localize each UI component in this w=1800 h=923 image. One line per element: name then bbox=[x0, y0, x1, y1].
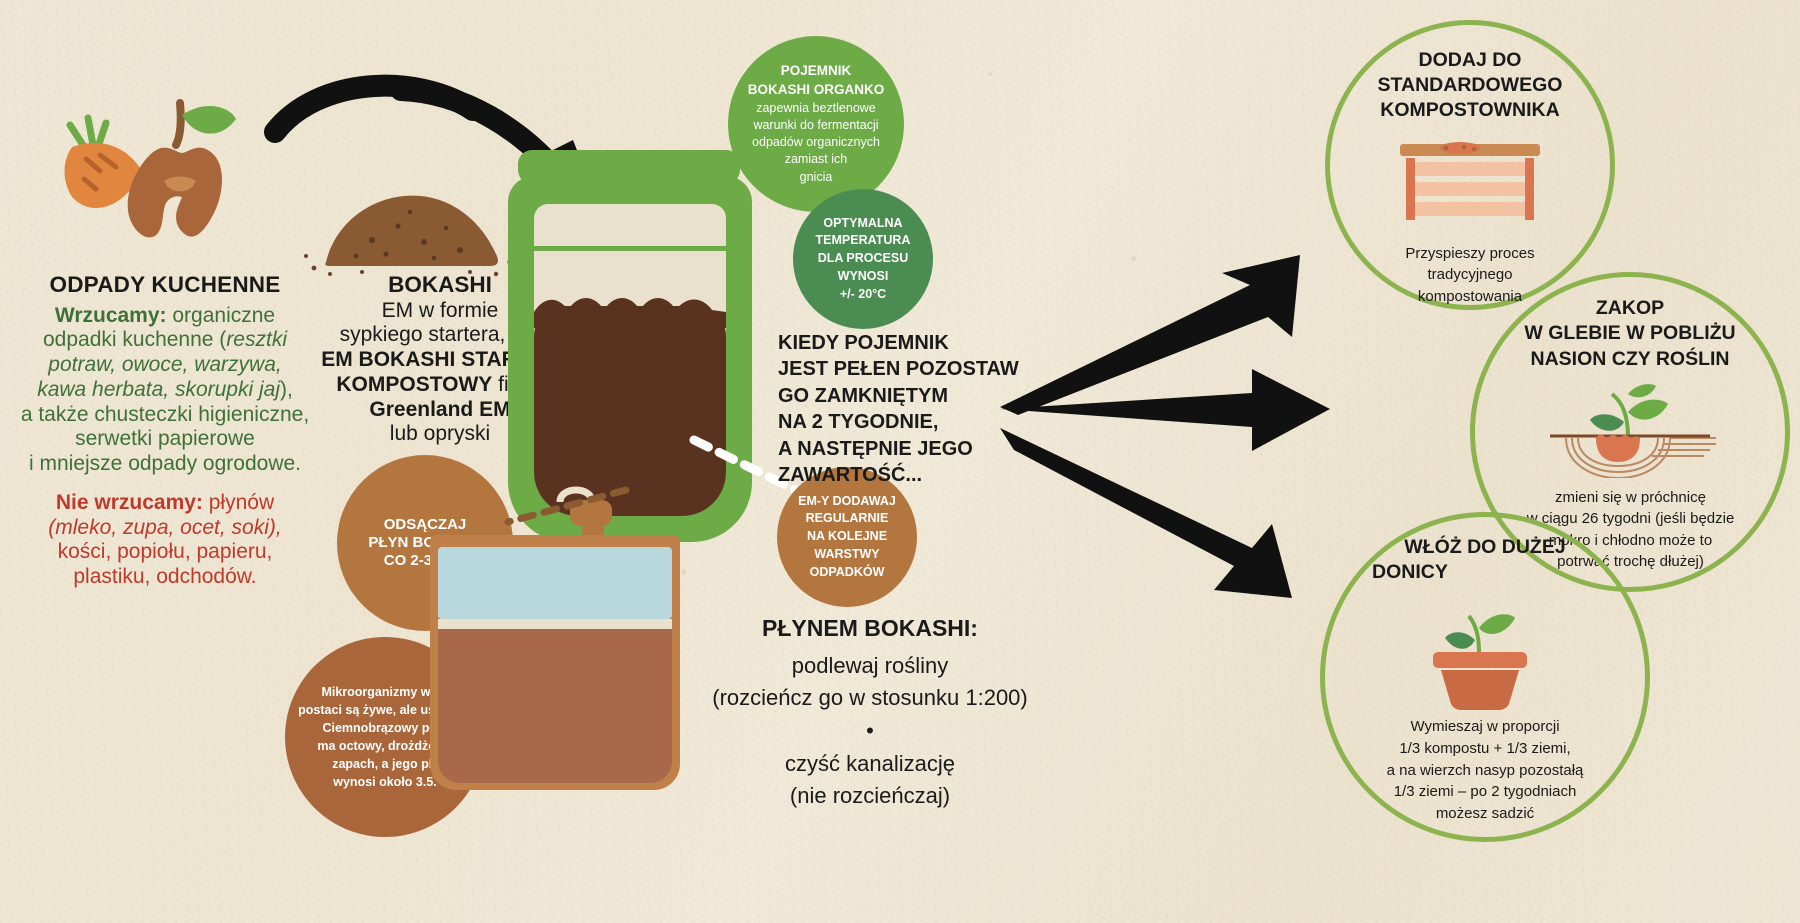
composter-title-1: DODAJ DO bbox=[1325, 48, 1615, 73]
bucket-liquid-surface bbox=[438, 619, 672, 629]
composter-body-1: Przyspieszy proces bbox=[1335, 243, 1605, 264]
container-body-5: gnicia bbox=[748, 169, 885, 186]
vegetables-icon bbox=[30, 85, 255, 275]
center-line-6: ZAWARTOŚĆ... bbox=[778, 462, 1028, 488]
pot-title-2: DONICY bbox=[1330, 560, 1640, 585]
outcome-pot-text: WŁÓŻ DO DUŻEJ DONICY bbox=[1330, 535, 1640, 586]
center-line-5: A NASTĘPNIE JEGO bbox=[778, 436, 1028, 462]
container-body-3: odpadów organicznych bbox=[748, 134, 885, 151]
outcome-composter-text: DODAJ DO STANDARDOWEGO KOMPOSTOWNIKA bbox=[1325, 48, 1615, 123]
plant-pot-icon bbox=[1415, 600, 1545, 710]
accept-line-7: i mniejsze odpady ogrodowe. bbox=[0, 452, 330, 477]
compost-bin-icon bbox=[1400, 140, 1540, 230]
container-body-1: zapewnia beztlenowe bbox=[748, 100, 885, 117]
liquid-use-heading: PŁYNEM BOKASHI: bbox=[640, 615, 1100, 642]
pot-body-4: 1/3 ziemi – po 2 tygodniach bbox=[1325, 781, 1645, 803]
soil-title-1: ZAKOP bbox=[1470, 296, 1790, 321]
soil-title-2: W GLEBIE W POBLIŻU bbox=[1470, 321, 1790, 346]
kitchen-waste-text-block: ODPADY KUCHENNE Wrzucamy: organiczne odp… bbox=[0, 272, 330, 590]
compost-surface bbox=[534, 282, 726, 328]
center-line-4: NA 2 TYGODNIE, bbox=[778, 409, 1028, 435]
container-body-2: warunki do fermentacji bbox=[748, 117, 885, 134]
accept-line1-rest: organiczne bbox=[167, 304, 276, 327]
temp-line-5: +/- 20°C bbox=[816, 286, 911, 304]
composter-title-2: STANDARDOWEGO bbox=[1325, 73, 1615, 98]
temp-line-1: OPTYMALNA bbox=[816, 215, 911, 233]
addem-line-1: EM-Y DODAWAJ bbox=[798, 493, 896, 511]
liquid-use-line-1: podlewaj rośliny bbox=[640, 650, 1100, 682]
accept-line2-b: resztki bbox=[226, 328, 287, 351]
pot-body-2: 1/3 kompostu + 1/3 ziemi, bbox=[1325, 738, 1645, 760]
soil-body-1: zmieni się w próchnicę bbox=[1478, 487, 1783, 508]
pot-body-1: Wymieszaj w proporcji bbox=[1325, 716, 1645, 738]
addem-line-5: ODPADKÓW bbox=[798, 564, 896, 582]
container-title-1: POJEMNIK bbox=[748, 62, 885, 81]
reject-label: Nie wrzucamy: bbox=[56, 491, 203, 514]
center-line-3: GO ZAMKNIĘTYM bbox=[778, 383, 1028, 409]
pot-title-1: WŁÓŻ DO DUŻEJ bbox=[1330, 535, 1640, 560]
composter-body-2: tradycyjnego bbox=[1335, 264, 1605, 285]
bin-inner-topline bbox=[534, 246, 726, 251]
accept-line4-a: kawa herbata, skorupki jaj bbox=[37, 378, 280, 401]
infographic-canvas: ODPADY KUCHENNE Wrzucamy: organiczne odp… bbox=[0, 0, 1800, 923]
reject-line-1: Nie wrzucamy: płynów bbox=[0, 491, 330, 516]
accept-line-5: a także chusteczki higieniczne, bbox=[0, 403, 330, 428]
seedling-in-soil-icon bbox=[1540, 382, 1720, 478]
liquid-use-line-4: (nie rozcieńczaj) bbox=[640, 780, 1100, 812]
accept-line-6: serwetki papierowe bbox=[0, 427, 330, 452]
accept-line-4: kawa herbata, skorupki jaj), bbox=[0, 378, 330, 403]
reject-line-4: plastiku, odchodów. bbox=[0, 565, 330, 590]
addem-line-4: WARSTWY bbox=[798, 546, 896, 564]
bokashi-line4-a: KOMPOSTOWY bbox=[336, 373, 492, 396]
bubble-container-info: POJEMNIK BOKASHI ORGANKO zapewnia beztle… bbox=[728, 36, 904, 212]
liquid-use-separator: • bbox=[640, 720, 1100, 742]
outcome-pot-body: Wymieszaj w proporcji 1/3 kompostu + 1/3… bbox=[1325, 716, 1645, 825]
bucket-water bbox=[438, 547, 672, 619]
composter-title-3: KOMPOSTOWNIKA bbox=[1325, 98, 1615, 123]
reject-line-2: (mleko, zupa, ocet, soki), bbox=[0, 516, 330, 541]
container-body-4: zamiast ich bbox=[748, 151, 885, 168]
bubble-temperature: OPTYMALNA TEMPERATURA DLA PROCESU WYNOSI… bbox=[793, 189, 933, 329]
center-line-1: KIEDY POJEMNIK bbox=[778, 330, 1028, 356]
accept-label: Wrzucamy: bbox=[55, 304, 167, 327]
liquid-use-line-2: (rozcieńcz go w stosunku 1:200) bbox=[640, 682, 1100, 714]
center-instruction-block: KIEDY POJEMNIK JEST PEŁEN POZOSTAW GO ZA… bbox=[778, 330, 1028, 488]
accept-line-1: Wrzucamy: organiczne bbox=[0, 304, 330, 329]
addem-line-2: REGULARNIE bbox=[798, 510, 896, 528]
container-title-2: BOKASHI ORGANKO bbox=[748, 81, 885, 100]
accept-line-3: potraw, owoce, warzywa, bbox=[0, 353, 330, 378]
temp-line-3: DLA PROCESU bbox=[816, 250, 911, 268]
liquid-use-line-3: czyść kanalizację bbox=[640, 748, 1100, 780]
soil-title-3: NASION CZY ROŚLIN bbox=[1470, 347, 1790, 372]
kitchen-waste-heading: ODPADY KUCHENNE bbox=[0, 272, 330, 299]
drain-line-1: ODSĄCZAJ bbox=[368, 516, 481, 534]
outcome-soil-text: ZAKOP W GLEBIE W POBLIŻU NASION CZY ROŚL… bbox=[1470, 296, 1790, 372]
bucket-liquid bbox=[438, 627, 672, 783]
pot-body-5: możesz sadzić bbox=[1325, 803, 1645, 825]
reject-line1-rest: płynów bbox=[203, 491, 274, 514]
pot-body-3: a na wierzch nasyp pozostałą bbox=[1325, 760, 1645, 782]
liquid-use-block: PŁYNEM BOKASHI: podlewaj rośliny (rozcie… bbox=[640, 615, 1100, 812]
center-line-2: JEST PEŁEN POZOSTAW bbox=[778, 356, 1028, 382]
temp-line-4: WYNOSI bbox=[816, 268, 911, 286]
arrow-down-right-icon bbox=[1000, 420, 1320, 600]
reject-line-3: kości, popiołu, papieru, bbox=[0, 540, 330, 565]
addem-line-3: NA KOLEJNE bbox=[798, 528, 896, 546]
accept-line2-a: odpadki kuchenne ( bbox=[43, 328, 226, 351]
accept-line-2: odpadki kuchenne (resztki bbox=[0, 328, 330, 353]
accept-line4-b: ), bbox=[280, 378, 293, 401]
temp-line-2: TEMPERATURA bbox=[816, 232, 911, 250]
